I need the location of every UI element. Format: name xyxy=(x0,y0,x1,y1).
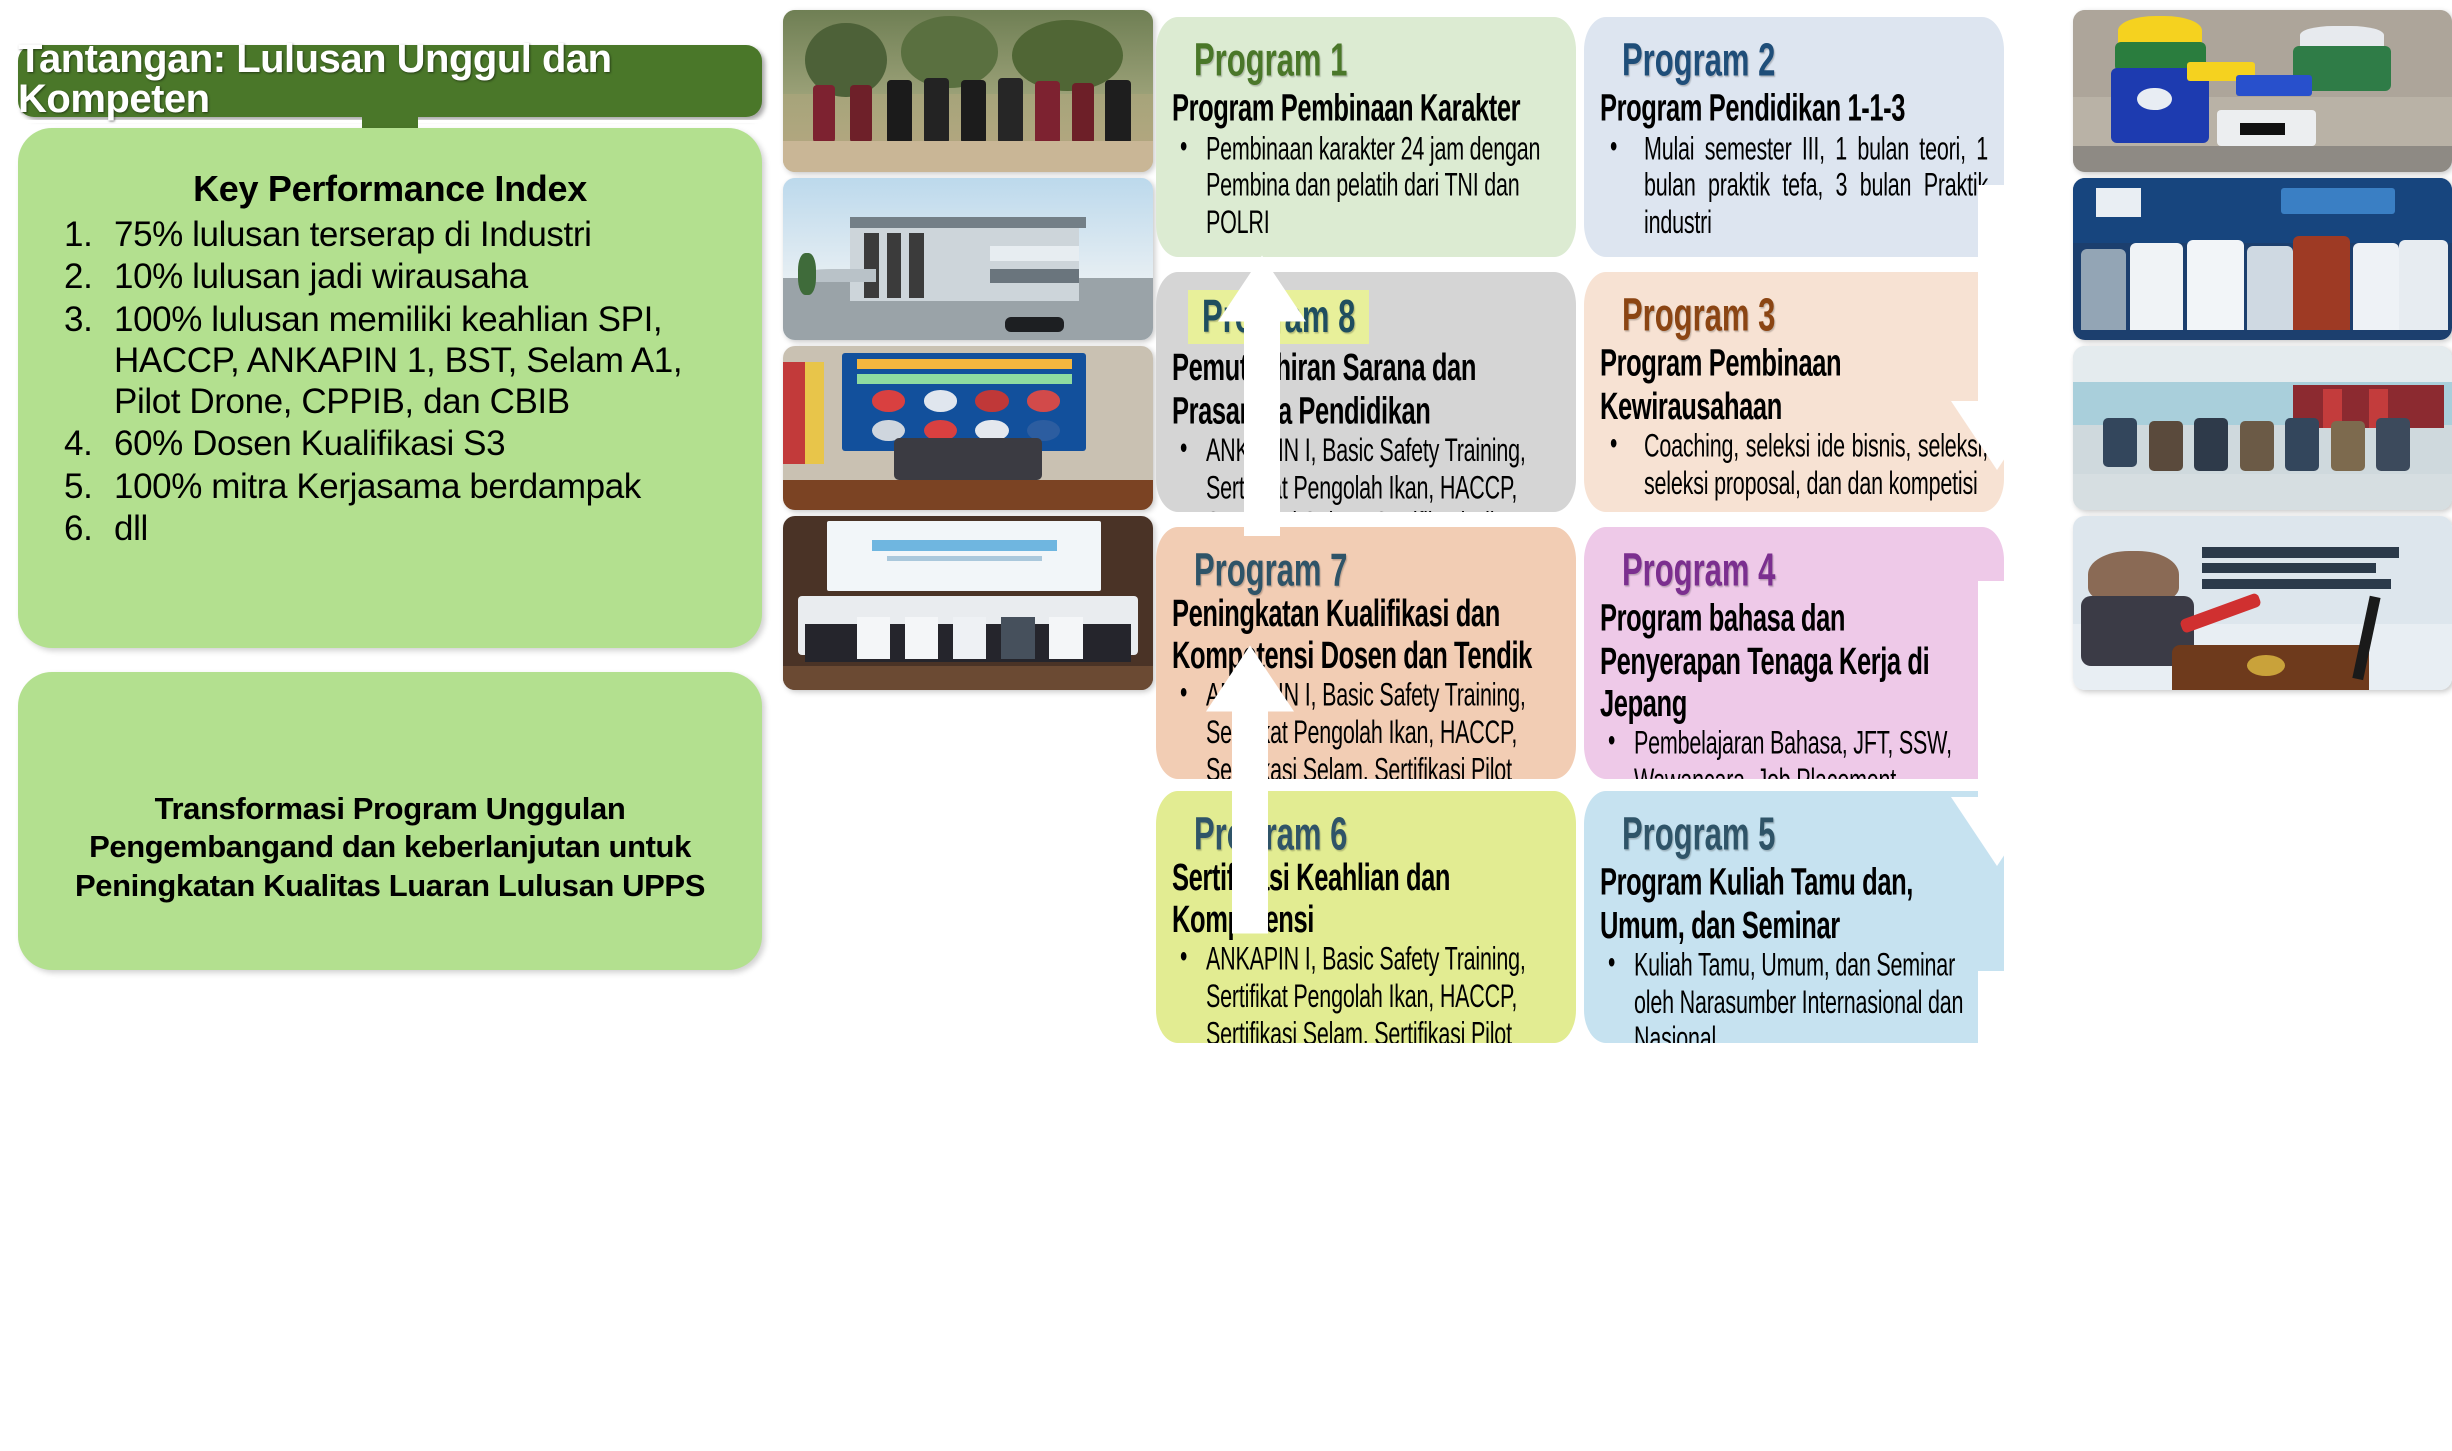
card-program-1-title: Program Pembinaan Karakter xyxy=(1172,88,1560,130)
card-program-4-bullets: Pembelajaran Bahasa, JFT, SSW, Wawancara… xyxy=(1600,724,1988,779)
arrow-head xyxy=(1951,797,2043,866)
arrow-shaft xyxy=(1978,185,2016,410)
arrow-program6-to-program7 xyxy=(1208,1043,1296,1328)
arrow-head xyxy=(1208,1043,1296,1109)
bullet-item: Kuliah Tamu, Umum, dan Seminar oleh Nara… xyxy=(1600,946,1988,1043)
kpi-item: 1.75% lulusan terserap di Industri xyxy=(64,214,744,255)
card-program-1-number: Program 1 xyxy=(1194,35,1347,85)
card-program-3-bullets: Coaching, seleksi ide bisnis, seleksi, s… xyxy=(1600,427,1988,502)
kpi-item-number: 6. xyxy=(64,508,110,549)
card-program-2-title: Program Pendidikan 1-1-3 xyxy=(1600,88,1988,130)
card-program-4-number: Program 4 xyxy=(1622,545,1775,595)
kpi-item-text: 100% mitra Kerjasama berdampak xyxy=(114,467,641,506)
program-card-grid: Program 1 Program Pembinaan Karakter Pem… xyxy=(1156,8,2072,1049)
arrow-head xyxy=(1951,401,2043,470)
arrow-shaft xyxy=(1234,1106,1270,1331)
arrow-head xyxy=(1206,646,1294,712)
kpi-item: 2.10% lulusan jadi wirausaha xyxy=(64,256,744,297)
arrow-shaft xyxy=(1978,971,2016,1196)
kpi-item-text: 10% lulusan jadi wirausaha xyxy=(114,257,528,296)
photo-art xyxy=(783,10,1153,172)
kpi-item: 6.dll xyxy=(64,508,744,549)
photo-fish-processing xyxy=(2073,10,2452,172)
kpi-item-number: 5. xyxy=(64,466,110,507)
card-program-3-number: Program 3 xyxy=(1622,290,1775,340)
photo-japanese-class xyxy=(2073,346,2452,510)
photo-art xyxy=(2073,10,2452,172)
card-program-2-bullets: Mulai semester III, 1 bulan teori, 1 bul… xyxy=(1600,130,1988,242)
kpi-item-number: 1. xyxy=(64,214,110,255)
photo-column-left xyxy=(783,10,1153,1048)
card-program-6-bullets: ANKAPIN I, Basic Safety Training, Sertif… xyxy=(1172,941,1560,1043)
arrow-shaft xyxy=(1560,1358,1678,1418)
photo-dissertation-defense xyxy=(783,346,1153,510)
card-program-1[interactable]: Program 1 Program Pembinaan Karakter Pem… xyxy=(1156,17,1576,257)
kpi-item: 5.100% mitra Kerjasama berdampak xyxy=(64,466,744,507)
kpi-item: 3.100% lulusan memiliki keahlian SPI, HA… xyxy=(64,299,744,423)
card-program-5[interactable]: Program 5 Program Kuliah Tamu dan, Umum,… xyxy=(1584,791,2004,1043)
kpi-item-text: dll xyxy=(114,509,148,548)
arrow-program2-to-program3 xyxy=(1951,185,2043,470)
bullet-item: Pembelajaran Bahasa, JFT, SSW, Wawancara… xyxy=(1600,724,1988,779)
card-program-2-number: Program 2 xyxy=(1622,35,1775,85)
arrow-head xyxy=(1218,256,1306,322)
photo-ankapin-group xyxy=(783,516,1153,690)
kpi-list: 1.75% lulusan terserap di Industri 2.10%… xyxy=(18,214,762,549)
card-program-7-number: Program 7 xyxy=(1194,545,1347,595)
kpi-item-text: 100% lulusan memiliki keahlian SPI, HACC… xyxy=(114,300,682,422)
card-program-3[interactable]: Program 3 Program Pembinaan Kewirausahaa… xyxy=(1584,272,2004,512)
arrow-program8-to-program1 xyxy=(1218,256,1306,534)
left-panel: Tantangan: Lulusan Unggul dan Kompeten K… xyxy=(0,0,780,1048)
challenge-banner: Tantangan: Lulusan Unggul dan Kompeten xyxy=(18,45,762,117)
kpi-item-number: 2. xyxy=(64,256,110,297)
card-program-1-bullets: Pembinaan karakter 24 jam dengan Pembina… xyxy=(1172,130,1560,242)
arrow-shaft xyxy=(1232,709,1268,934)
kpi-box: Key Performance Index 1.75% lulusan ters… xyxy=(18,128,762,648)
arrow-program4-to-program5 xyxy=(1951,971,2043,1256)
photo-art xyxy=(783,516,1153,690)
card-program-5-number: Program 5 xyxy=(1622,809,1775,859)
arrow-program3-to-program4 xyxy=(1951,581,2043,866)
bullet-item: Coaching, seleksi ide bisnis, seleksi, s… xyxy=(1600,427,1988,502)
card-program-3-title: Program Pembinaan Kewirausahaan xyxy=(1600,343,1988,427)
kpi-item-number: 3. xyxy=(64,299,110,340)
photo-softskills-seminar xyxy=(2073,516,2452,690)
kpi-item-text: 60% Dosen Kualifikasi S3 xyxy=(114,424,505,463)
bullet-item: Mulai semester III, 1 bulan teori, 1 bul… xyxy=(1600,130,1988,242)
bullet-item: ANKAPIN I, Basic Safety Training, Sertif… xyxy=(1172,941,1560,1043)
arrow-head xyxy=(1518,1325,1562,1451)
challenge-banner-text: Tantangan: Lulusan Unggul dan Kompeten xyxy=(18,39,762,123)
photo-cadets-with-minister xyxy=(2073,178,2452,340)
kpi-item: 4.60% Dosen Kualifikasi S3 xyxy=(64,423,744,464)
photo-art xyxy=(2073,178,2452,340)
kpi-item-number: 4. xyxy=(64,423,110,464)
arrow-program5-to-program6 xyxy=(1518,1325,1678,1451)
arrow-shaft xyxy=(1244,319,1280,537)
card-program-5-title: Program Kuliah Tamu dan, Umum, dan Semin… xyxy=(1600,862,1988,946)
bullet-item: Pembinaan karakter 24 jam dengan Pembina… xyxy=(1172,130,1560,242)
card-program-4-title: Program bahasa dan Penyerapan Tenaga Ker… xyxy=(1600,598,1988,724)
photo-art xyxy=(783,178,1153,340)
card-program-2[interactable]: Program 2 Program Pendidikan 1-1-3 Mulai… xyxy=(1584,17,2004,257)
kpi-title: Key Performance Index xyxy=(18,168,762,210)
photo-jogging-group xyxy=(783,10,1153,172)
arrow-head xyxy=(1951,1187,2043,1256)
photo-column-right xyxy=(2073,10,2452,1048)
arrow-shaft xyxy=(1978,581,2016,806)
arrow-program7-to-program8 xyxy=(1206,646,1294,931)
card-program-5-bullets: Kuliah Tamu, Umum, dan Seminar oleh Nara… xyxy=(1600,946,1988,1043)
card-program-4[interactable]: Program 4 Program bahasa dan Penyerapan … xyxy=(1584,527,2004,779)
transformation-text: Transformasi Program Unggulan Pengembang… xyxy=(18,790,762,905)
photo-art xyxy=(783,346,1153,510)
photo-art xyxy=(2073,346,2452,510)
transformation-box: Transformasi Program Unggulan Pengembang… xyxy=(18,672,762,970)
photo-campus-building xyxy=(783,178,1153,340)
photo-art xyxy=(2073,516,2452,690)
kpi-item-text: 75% lulusan terserap di Industri xyxy=(114,215,591,254)
